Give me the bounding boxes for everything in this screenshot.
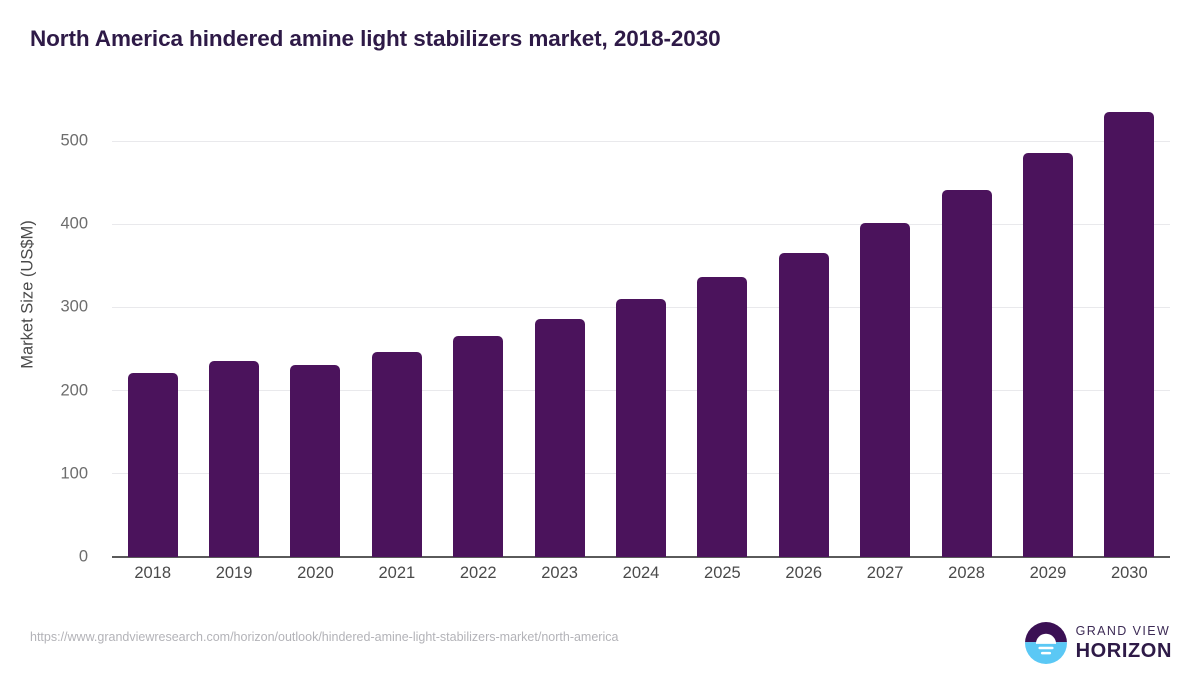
- y-axis-title: Market Size (US$M): [19, 95, 38, 495]
- x-tick-label-2020: 2020: [275, 564, 355, 583]
- bar-2026[interactable]: [779, 253, 829, 558]
- bar-2030[interactable]: [1104, 112, 1154, 557]
- x-tick-label-2019: 2019: [194, 564, 274, 583]
- bar-2027[interactable]: [860, 223, 910, 557]
- x-tick-label-2030: 2030: [1089, 564, 1169, 583]
- sunrise-horizon-icon: [1025, 622, 1067, 664]
- bar-2022[interactable]: [453, 336, 503, 557]
- y-tick-label-0: 0: [79, 548, 88, 567]
- bar-2029[interactable]: [1023, 153, 1073, 557]
- logo-line-horizon: HORIZON: [1076, 641, 1172, 661]
- x-tick-label-2026: 2026: [764, 564, 844, 583]
- bar-2023[interactable]: [535, 319, 585, 557]
- x-tick-label-2029: 2029: [1008, 564, 1088, 583]
- bar-2018[interactable]: [128, 373, 178, 557]
- bar-2020[interactable]: [290, 365, 340, 557]
- x-tick-label-2023: 2023: [520, 564, 600, 583]
- y-tick-label-400: 400: [60, 215, 88, 234]
- chart-page: North America hindered amine light stabi…: [0, 0, 1200, 675]
- bar-series: [112, 100, 1170, 557]
- bar-2024[interactable]: [616, 299, 666, 557]
- source-url[interactable]: https://www.grandviewresearch.com/horizo…: [30, 630, 618, 644]
- y-tick-label-200: 200: [60, 381, 88, 400]
- x-tick-label-2018: 2018: [113, 564, 193, 583]
- bar-2028[interactable]: [942, 190, 992, 557]
- brand-logo[interactable]: GRAND VIEW HORIZON: [1025, 622, 1172, 664]
- y-tick-label-300: 300: [60, 298, 88, 317]
- x-tick-label-2021: 2021: [357, 564, 437, 583]
- y-axis-tick-labels: 0100200300400500: [0, 100, 100, 557]
- x-tick-label-2028: 2028: [927, 564, 1007, 583]
- x-tick-label-2024: 2024: [601, 564, 681, 583]
- logo-line-grand-view: GRAND VIEW: [1076, 625, 1172, 638]
- x-tick-label-2022: 2022: [438, 564, 518, 583]
- x-tick-label-2027: 2027: [845, 564, 925, 583]
- y-tick-label-500: 500: [60, 132, 88, 151]
- bar-2021[interactable]: [372, 352, 422, 557]
- y-tick-label-100: 100: [60, 464, 88, 483]
- x-axis-tick-labels: 2018201920202021202220232024202520262027…: [112, 564, 1170, 594]
- page-title: North America hindered amine light stabi…: [30, 26, 721, 52]
- bar-2019[interactable]: [209, 361, 259, 557]
- bar-2025[interactable]: [697, 277, 747, 557]
- logo-wordmark: GRAND VIEW HORIZON: [1076, 625, 1172, 661]
- x-tick-label-2025: 2025: [682, 564, 762, 583]
